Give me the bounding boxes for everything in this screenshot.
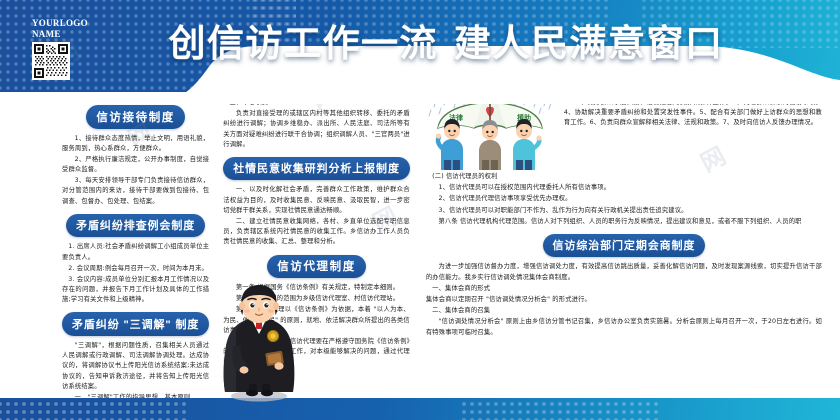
paragraph: 3、信访代理员可以对职能部门不作为、乱作为行为向有关行政机关提出责任追究建议。 — [426, 206, 822, 216]
paragraph: "信访调处情况分析会" 原则上由乡信访分管书记召集，乡信访办公室负责实施暑。分析… — [426, 317, 822, 337]
paragraph: 负责对直接受理的或辖区内村等其他组织转移、委托的矛盾纠纷进行调解；协调乡维稳办、… — [223, 109, 410, 150]
content-column-3: 法律 援助 — [416, 98, 826, 400]
page-title-left: 创信访工作一流 — [169, 22, 439, 65]
section-title-public-opinion: 社情民意收集研判分析上报制度 — [223, 157, 410, 181]
paragraph: 为进一步加强信访督办力度，增强信访调处力度，有效提高信访跳出质量，妥善化解信访问… — [426, 262, 822, 282]
section-title-joint-consultation: 信访综治部门定期会商制度 — [543, 234, 706, 258]
subheading: (二) 信访代理员的权利 — [426, 172, 822, 182]
paragraph: 3. 会议内容:成员单位分别汇报本月工作情况以及存在的问题，并报告下月工作计划及… — [62, 275, 209, 306]
poster-footer — [0, 398, 840, 420]
poster-root: YOURLOGO NAME — [0, 0, 840, 420]
page-title-right: 建人民满意窗口 — [454, 22, 724, 65]
paragraph: 1. 出席人员:社会矛盾纠纷调解工小组成员单位主要负责人。 — [62, 242, 209, 262]
footer-dot-pattern-left — [0, 400, 186, 420]
section-title-three-mediation: 矛盾纠纷 "三调解" 制度 — [62, 312, 209, 336]
footer-dot-pattern-right — [460, 400, 660, 420]
umbrella-mediation-illustration: 法律 援助 — [428, 98, 556, 170]
judge-character-illustration — [211, 284, 307, 402]
paragraph: 2、信访代理员代理信访事项享受优先办理权。 — [426, 194, 822, 204]
paragraph: 一、集体会商的形式 — [426, 284, 822, 294]
paragraph: "三调解"，根据问题性质，召集相关人员通过人民调解或行政调解、司法调解协调处理。… — [62, 341, 209, 392]
paragraph: 1、信访代理员可以在授权范围内代理委托人所有信访事项。 — [426, 183, 822, 193]
paragraph: 2、严格执行廉洁规定，公开办事制度，自觉接受群众监督。 — [62, 155, 209, 175]
poster-body: 信访接待制度 1、接待群众态度热情，举止文明，用语礼貌，服务周到，热心系群众，方… — [0, 92, 840, 400]
paragraph: 一、以及时化解社会矛盾，完善群众工作政策，维护群众合法权益为目的，及时收集民意、… — [223, 185, 410, 216]
section-title-dispute-meeting: 矛盾纠纷排查例会制度 — [66, 214, 205, 238]
paragraph: 第八条 信访代理机构代理范围。信访人对下列组织、人员的职务行为反映情况，提出建议… — [426, 217, 822, 227]
paragraph: 3、每天安排领导干部专门负责接待信访群众，对分管范围内的来访，接待干部要做到包接… — [62, 176, 209, 207]
paragraph: 二、集体会商的召集 — [426, 306, 822, 316]
paragraph: 集体会商以定期召开 "信访调处情况分析会" 的形式进行。 — [426, 295, 822, 305]
paragraph: 1、接待群众态度热情，举止文明，用语礼貌，服务周到，热心系群众，方便群众。 — [62, 134, 209, 154]
page-title: 创信访工作一流建人民满意窗口 — [0, 13, 840, 67]
section-title-reception: 信访接待制度 — [86, 105, 185, 129]
content-column-2: 三、中心职责 负责对直接受理的或辖区内村等其他组织转移、委托的矛盾纠纷进行调解；… — [215, 98, 416, 400]
paragraph: 二、建立社情民意收集网络，各村、乡直单位选配专职信息员，负责辖区系统内社情民意的… — [223, 217, 410, 248]
content-column-1: 信访接待制度 1、接待群众态度热情，举止文明，用语礼貌，服务周到，热心系群众，方… — [14, 98, 215, 400]
column3-top-row: 法律 援助 — [426, 98, 822, 172]
paragraph: 2. 会议周期:例会每月召开一次，时间为本月末。 — [62, 264, 209, 274]
section-title-petition-agency: 信访代理制度 — [267, 255, 366, 279]
